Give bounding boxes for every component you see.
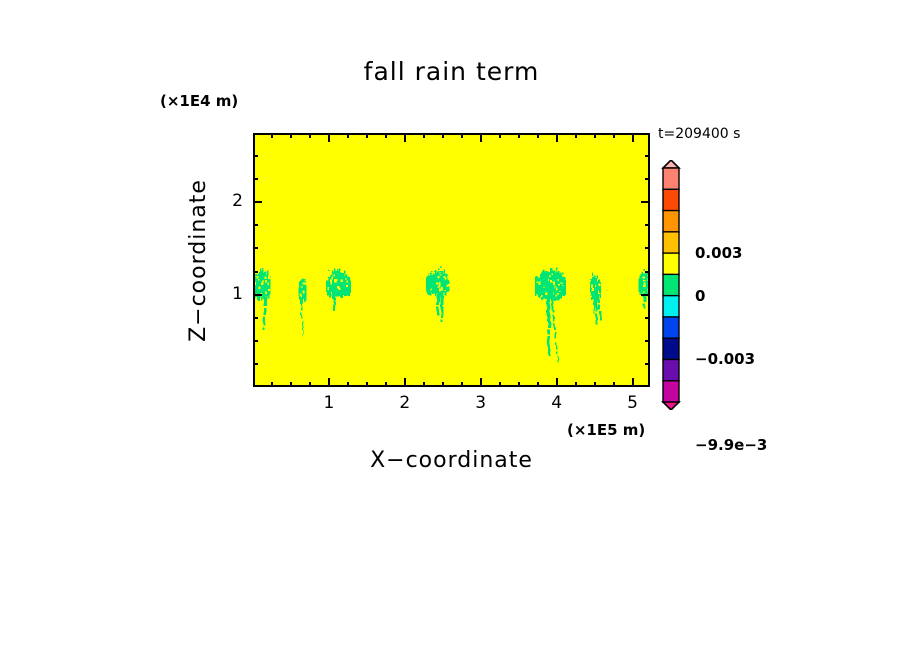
colorbar-band: [663, 338, 679, 360]
colorbar-gradient: [655, 160, 695, 410]
figure-canvas: fall rain term (×1E4 m) t=209400 s 12345…: [0, 0, 904, 654]
x-axis-units-label: (×1E5 m): [567, 421, 645, 439]
x-tick-label: 4: [542, 393, 572, 413]
heatmap-field: [255, 135, 648, 385]
y-tick-label: 1: [215, 284, 243, 304]
time-stamp-label: t=209400 s: [658, 126, 740, 142]
x-tick-label: 3: [466, 393, 496, 413]
y-axis-title-text: Z−coordinate: [186, 179, 211, 342]
colorbar-band: [663, 381, 679, 403]
colorbar-band: [663, 359, 679, 381]
colorbar-over-arrow: [663, 160, 679, 168]
colorbar-band: [663, 211, 679, 233]
colorbar: [655, 160, 695, 410]
y-axis-units-label: (×1E4 m): [160, 92, 238, 110]
colorbar-band: [663, 232, 679, 254]
colorbar-under-arrow: [663, 402, 679, 410]
colorbar-band: [663, 317, 679, 339]
y-tick-label: 2: [215, 191, 243, 211]
x-tick-label: 2: [390, 393, 420, 413]
page-title: fall rain term: [253, 57, 650, 86]
colorbar-tick-label: −9.9e−3: [695, 436, 767, 454]
colorbar-tick-label: 0: [695, 287, 705, 305]
colorbar-band: [663, 253, 679, 275]
colorbar-band: [663, 168, 679, 190]
x-axis-title: X−coordinate: [253, 448, 650, 473]
y-axis-title: Z−coordinate: [186, 155, 210, 365]
colorbar-band: [663, 296, 679, 318]
colorbar-band: [663, 189, 679, 211]
colorbar-band: [663, 274, 679, 296]
colorbar-tick-label: −0.003: [695, 350, 755, 368]
colorbar-tick-label: 0.003: [695, 244, 742, 262]
x-tick-label: 1: [314, 393, 344, 413]
x-tick-label: 5: [618, 393, 648, 413]
plot-area: [253, 133, 650, 387]
